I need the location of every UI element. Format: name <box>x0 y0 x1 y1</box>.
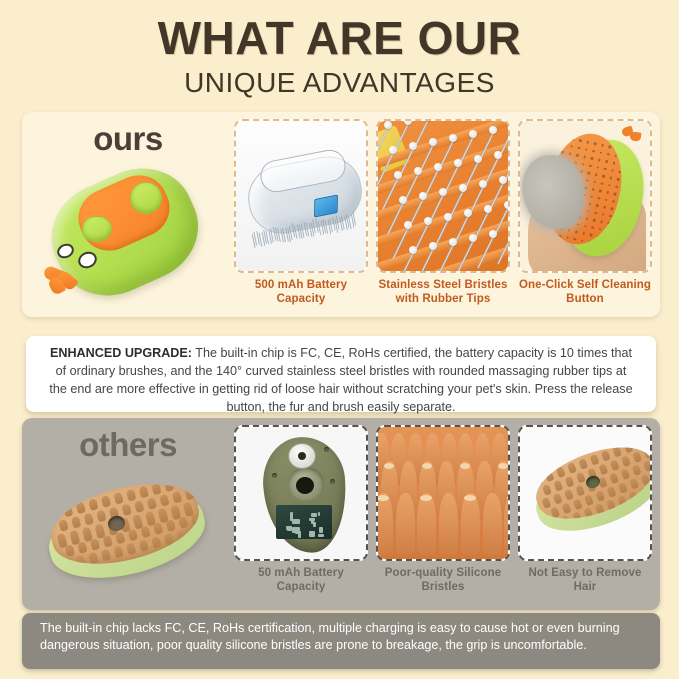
others-feature-3-caption: Not Easy to Remove Hair <box>518 566 652 595</box>
ours-feature-2: Stainless Steel Bristles with Rubber Tip… <box>376 119 510 317</box>
page-header: WHAT ARE OUR UNIQUE ADVANTAGES <box>0 0 679 100</box>
page-title: WHAT ARE OUR <box>0 14 679 62</box>
ours-hero-image <box>38 166 210 304</box>
silicone-cones-thumbnail <box>376 425 510 561</box>
steel-bristles-thumbnail <box>376 119 510 273</box>
enhanced-upgrade-panel: ENHANCED UPGRADE: The built-in chip is F… <box>26 336 656 412</box>
ours-feature-3-caption: One-Click Self Cleaning Button <box>518 278 652 307</box>
knob-icon <box>288 443 316 469</box>
ours-feature-1: 500 mAh Battery Capacity <box>234 119 368 317</box>
ours-label: ours <box>22 120 234 158</box>
others-feature-1-caption: 50 mAh Battery Capacity <box>234 566 368 595</box>
disassembled-shell-thumbnail <box>234 425 368 561</box>
ours-feature-2-caption: Stainless Steel Bristles with Rubber Tip… <box>376 278 510 307</box>
chick-beak-icon <box>44 266 84 292</box>
others-feature-grid: 50 mAh Battery Capacity Poor-quality Sil… <box>234 418 660 610</box>
page-subtitle: UNIQUE ADVANTAGES <box>0 66 679 100</box>
others-feature-1: 50 mAh Battery Capacity <box>234 425 368 610</box>
others-feature-3: Not Easy to Remove Hair <box>518 425 652 610</box>
others-hero-image <box>40 474 216 598</box>
others-drawback-text: The built-in chip lacks FC, CE, RoHs cer… <box>40 620 642 654</box>
others-section: others 5 <box>22 418 660 610</box>
others-feature-2-caption: Poor-quality Silicone Bristles <box>376 566 510 595</box>
ours-product-column: ours <box>22 112 234 317</box>
ours-feature-grid: 500 mAh Battery Capacity Stainless Steel… <box>234 112 660 317</box>
ours-feature-1-caption: 500 mAh Battery Capacity <box>234 278 368 307</box>
power-button-icon <box>130 182 162 214</box>
others-feature-2: Poor-quality Silicone Bristles <box>376 425 510 610</box>
circuit-board-icon <box>276 505 332 539</box>
xray-battery-thumbnail <box>234 119 368 273</box>
others-product-column: others <box>22 418 234 610</box>
tan-brush-thumbnail <box>518 425 652 561</box>
ours-feature-3: One-Click Self Cleaning Button <box>518 119 652 317</box>
others-label: others <box>22 426 234 464</box>
others-drawback-panel: The built-in chip lacks FC, CE, RoHs cer… <box>22 613 660 669</box>
ours-section: ours <box>22 112 660 317</box>
crest-icon <box>622 127 644 145</box>
self-cleaning-thumbnail <box>518 119 652 273</box>
enhanced-upgrade-label: ENHANCED UPGRADE: <box>50 346 192 360</box>
